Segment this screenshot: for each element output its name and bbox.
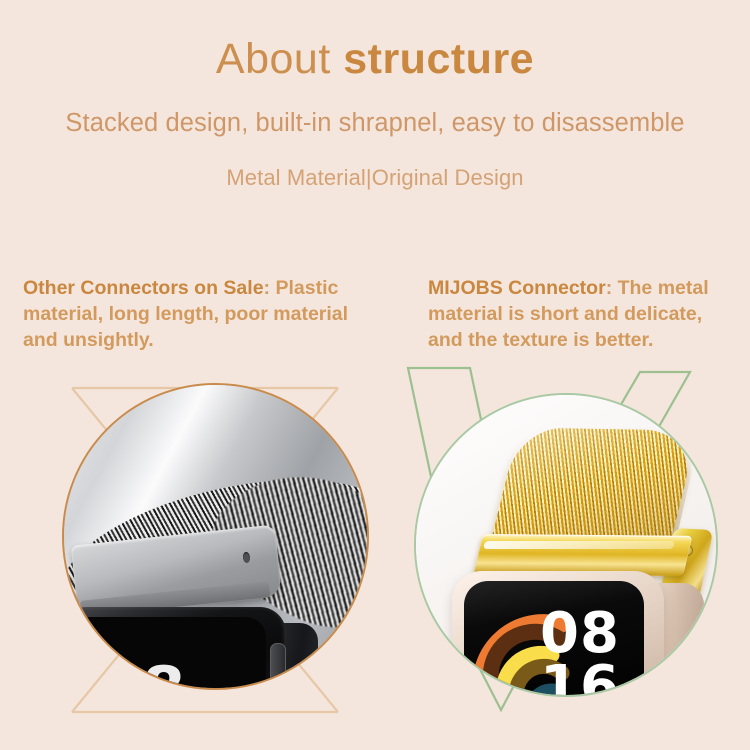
page-title: About structure xyxy=(0,38,750,81)
product-comparison-page: About structure Stacked design, built-in… xyxy=(0,0,750,750)
gold-watch-hour: 08 xyxy=(540,607,620,660)
page-title-bold: structure xyxy=(343,35,534,83)
gold-watch-time: 08 16 xyxy=(540,607,620,697)
photo-right-gold-connector: 08 16 xyxy=(414,393,718,697)
header: About structure Stacked design, built-in… xyxy=(0,0,750,191)
gold-watch-minute: 16 xyxy=(540,660,620,697)
photo-left-silver-connector: 08 xyxy=(62,383,369,690)
caption-right-heading: MIJOBS Connector xyxy=(428,277,606,299)
photo-left-content: 08 xyxy=(64,385,367,688)
silver-watch-time: 08 xyxy=(98,653,186,690)
page-title-regular: About xyxy=(216,35,343,83)
photo-right-content: 08 16 xyxy=(416,395,716,695)
silver-watch-side-button xyxy=(270,643,286,690)
subtitle-secondary: Metal Material|Original Design xyxy=(0,165,750,191)
caption-right: MIJOBS Connector: The metal material is … xyxy=(428,276,738,354)
subtitle-primary: Stacked design, built-in shrapnel, easy … xyxy=(0,109,750,138)
gold-connector-highlight xyxy=(483,541,675,549)
caption-left-colon: : xyxy=(264,277,276,299)
caption-left-heading: Other Connectors on Sale xyxy=(23,277,264,299)
caption-right-colon: : xyxy=(606,277,618,299)
caption-left: Other Connectors on Sale: Plastic materi… xyxy=(23,276,373,354)
